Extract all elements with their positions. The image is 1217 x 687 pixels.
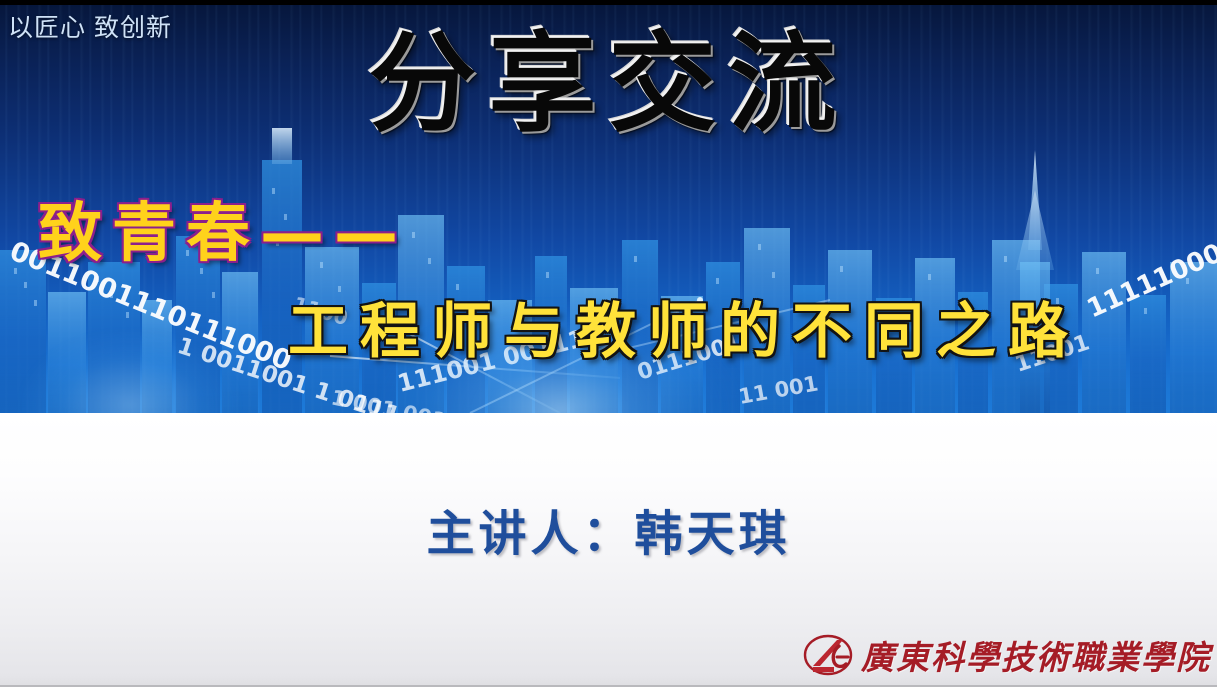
corporate-tagline: 以匠心 致创新: [8, 8, 172, 44]
gpc-emblem-icon: [803, 633, 853, 677]
slide-main-title: 分享交流: [0, 28, 1217, 141]
slide-subtitle-line-2: 工程师与教师的不同之路: [288, 283, 1080, 370]
university-name: 廣東科學技術職業學院: [861, 631, 1211, 679]
top-black-bar: [0, 0, 1217, 5]
slide-subtitle-line-1: 致青春——: [38, 182, 408, 274]
light-bloom-left: [20, 330, 240, 413]
presentation-slide: 0011001110111000 1 0011001 1 0111 111001…: [0, 0, 1217, 687]
presenter-name: 主讲人：韩天琪: [0, 494, 1217, 564]
university-logo: 廣東科學技術職業學院: [803, 631, 1211, 679]
